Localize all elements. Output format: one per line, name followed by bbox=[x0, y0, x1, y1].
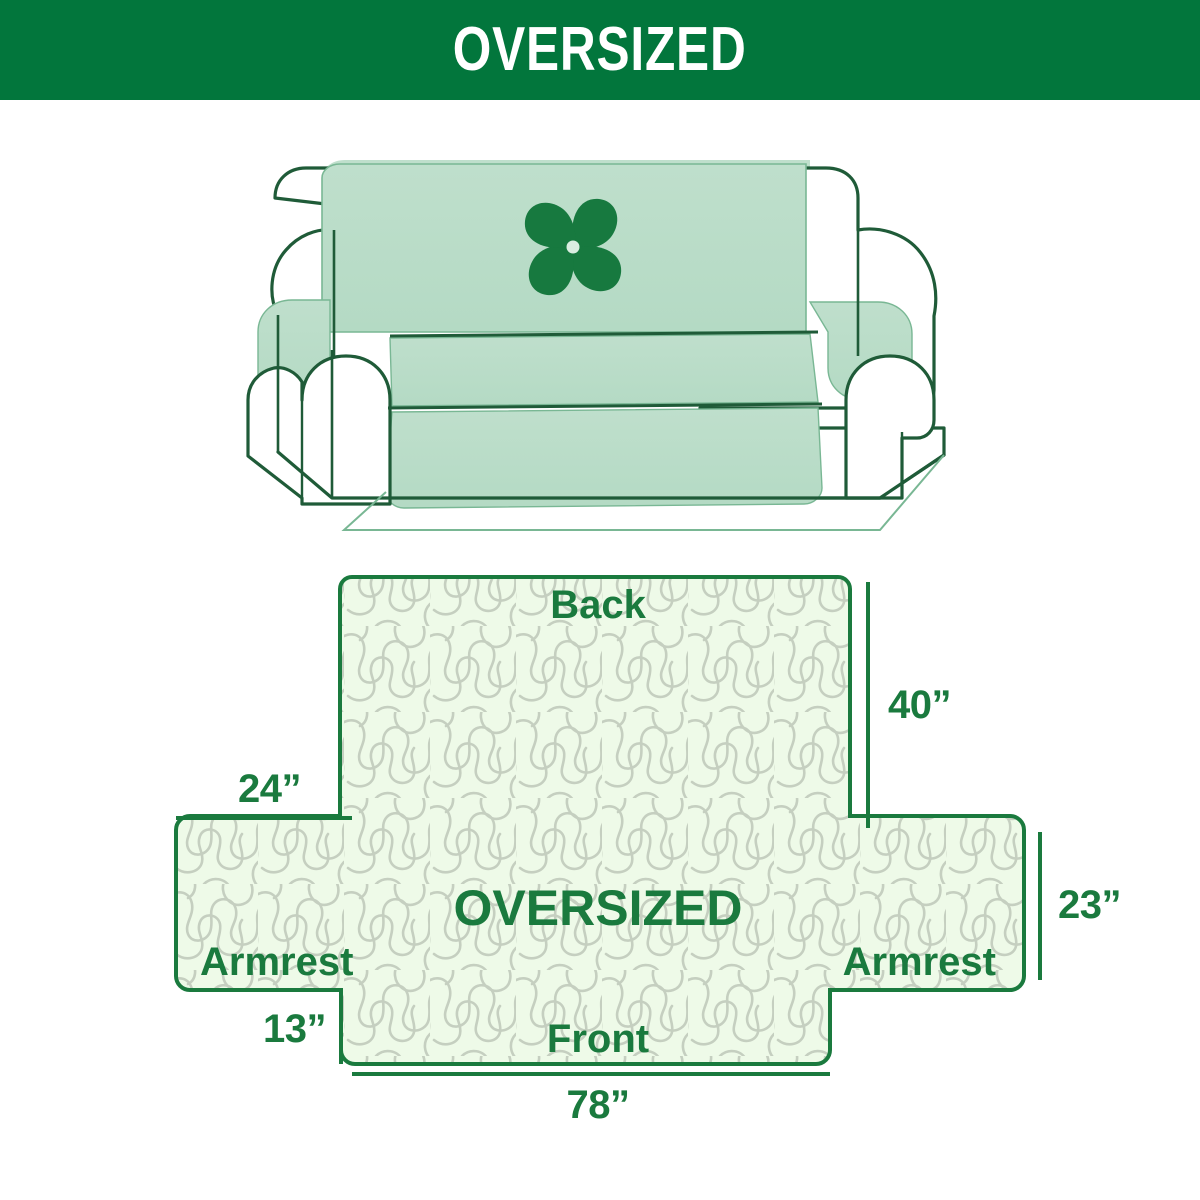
sofa-illustration bbox=[0, 100, 1200, 540]
sofa-left-arm bbox=[248, 356, 390, 504]
dimension-total-width-label: 78” bbox=[567, 1083, 630, 1127]
dimension-armrest-height: 23” bbox=[1040, 832, 1121, 980]
label-armrest-left: Armrest bbox=[200, 940, 353, 984]
dimension-armrest-width-label: 24” bbox=[238, 767, 301, 811]
dimension-back-height: 40” bbox=[868, 582, 951, 828]
slipcover-seat-band bbox=[390, 334, 818, 406]
layout-diagram: Back OVERSIZED Armrest Armrest Front 40”… bbox=[0, 540, 1200, 1200]
dimension-total-width: 78” bbox=[352, 1074, 830, 1127]
dimension-front-drop: 13” bbox=[263, 992, 341, 1064]
label-back: Back bbox=[550, 583, 646, 627]
dimension-front-drop-label: 13” bbox=[263, 1007, 326, 1051]
header-banner: OVERSIZED bbox=[0, 0, 1200, 100]
label-armrest-right: Armrest bbox=[843, 940, 996, 984]
dimension-back-height-label: 40” bbox=[888, 683, 951, 727]
product-size-chart-page: OVERSIZED bbox=[0, 0, 1200, 1200]
pinwheel-hub bbox=[567, 241, 580, 254]
slipcover-seat-cushion bbox=[386, 408, 822, 508]
dimension-armrest-width: 24” bbox=[176, 767, 352, 818]
label-front: Front bbox=[547, 1017, 649, 1061]
label-oversized-center: OVERSIZED bbox=[454, 880, 743, 936]
dimension-armrest-height-label: 23” bbox=[1058, 883, 1121, 927]
sofa-right-arm bbox=[846, 356, 934, 498]
page-title: OVERSIZED bbox=[453, 19, 747, 81]
